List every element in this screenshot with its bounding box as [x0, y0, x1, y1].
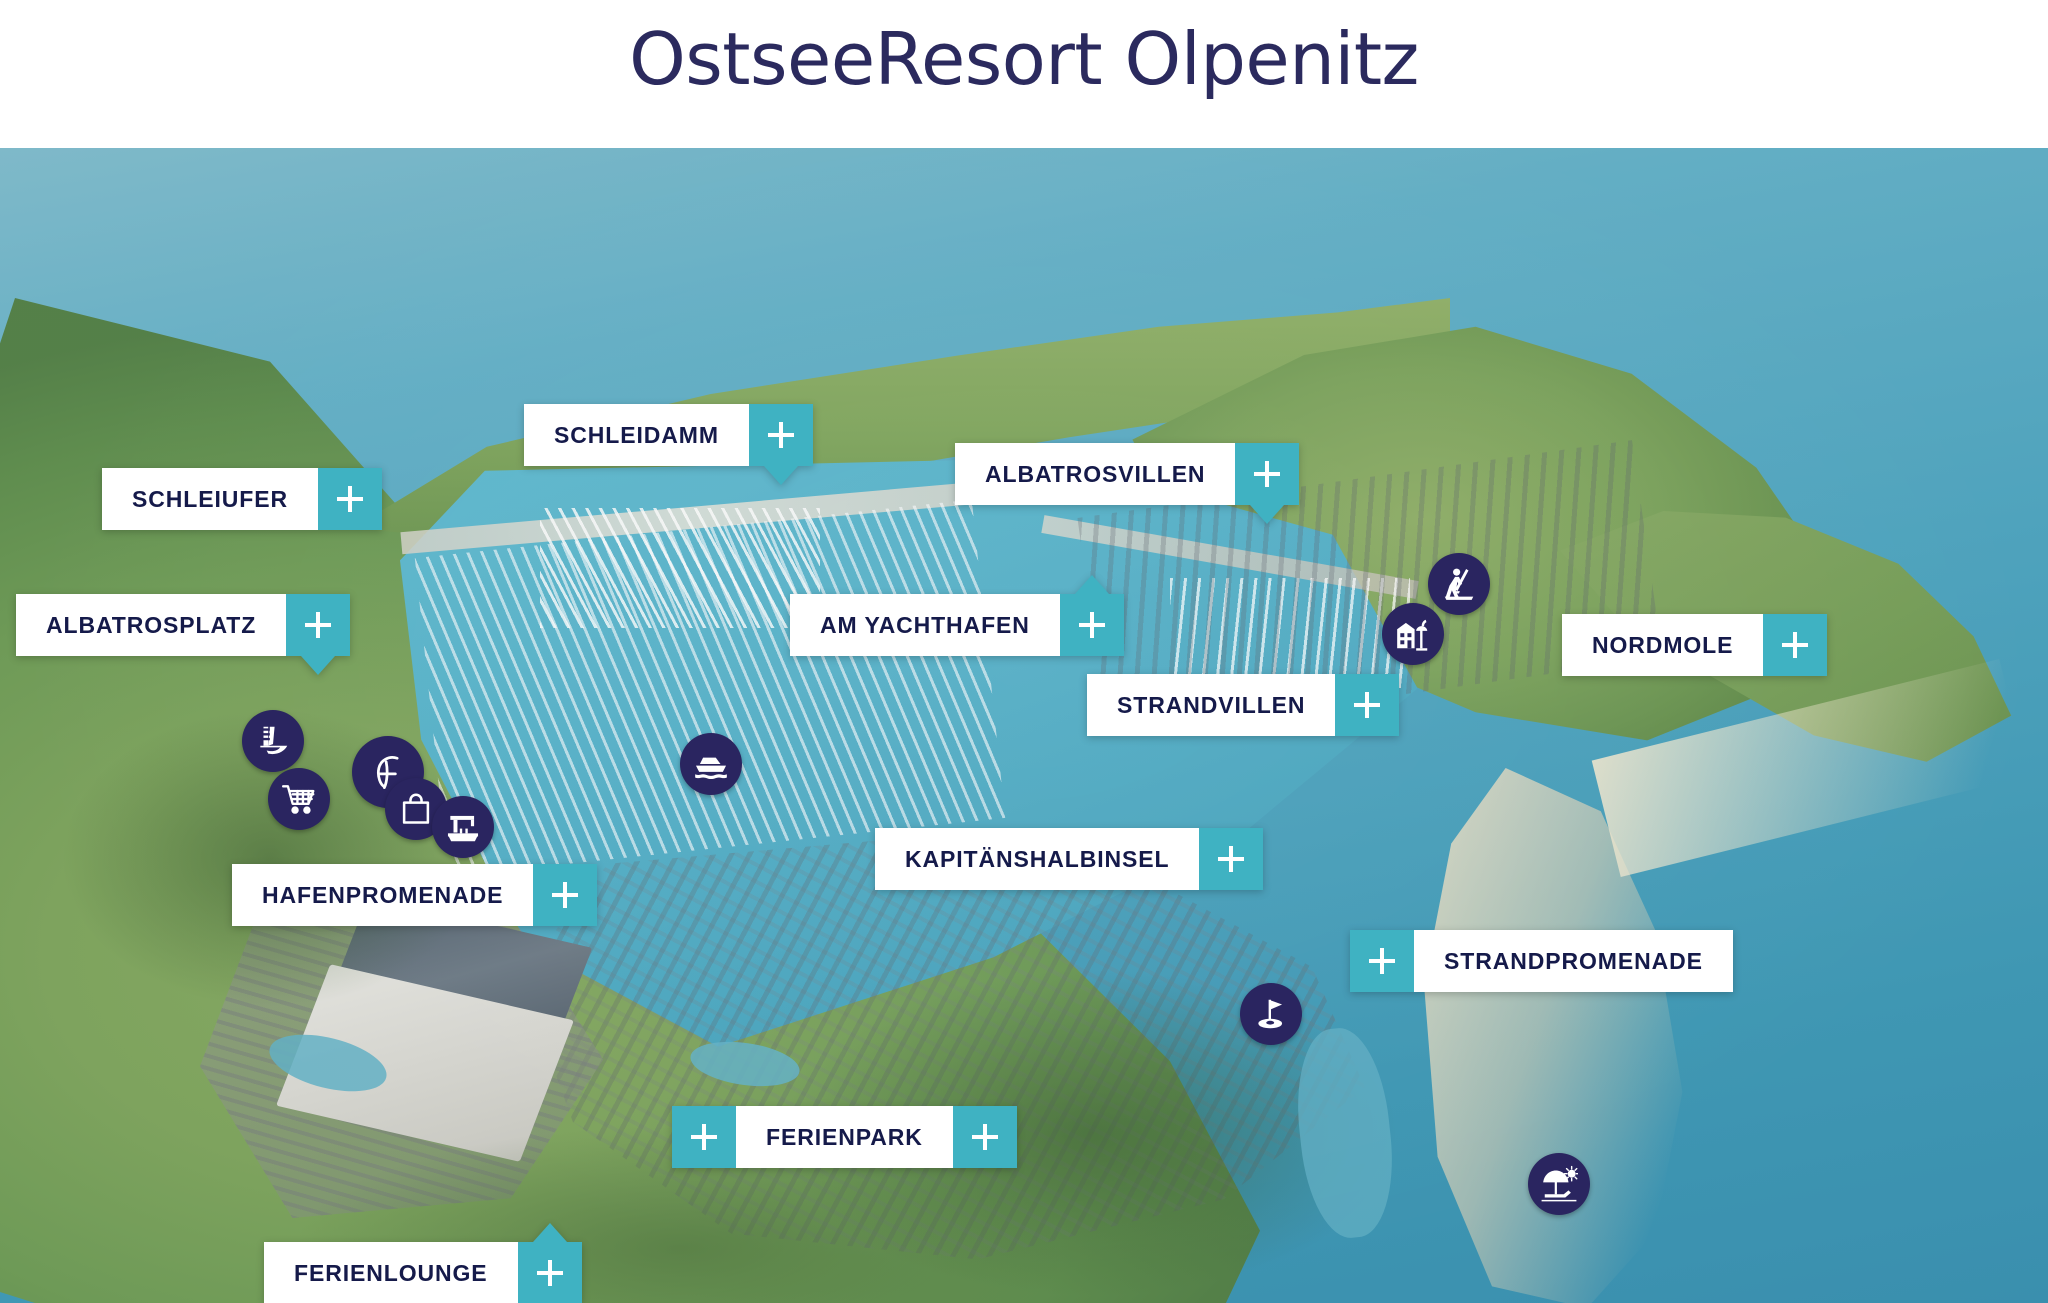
shopping-bag-icon — [397, 790, 435, 828]
hotspot-label-kapitaenshalbinsel: KAPITÄNSHALBINSEL — [875, 828, 1199, 890]
golf-flag-icon — [1252, 995, 1290, 1033]
page-root: OstseeResort Olpenitz — [0, 0, 2048, 1303]
hotspot-ferienpark[interactable]: FERIENPARK — [672, 1106, 1017, 1168]
poi-shopping-cart[interactable] — [268, 768, 330, 830]
hotspot-plus-albatrosvillen[interactable] — [1235, 443, 1299, 505]
hotspot-label-strandvillen: STRANDVILLEN — [1087, 674, 1335, 736]
hotspot-label-albatrosplatz: ALBATROSPLATZ — [16, 594, 286, 656]
hotspot-strandvillen[interactable]: STRANDVILLEN — [1087, 674, 1399, 736]
hotspot-albatrosvillen[interactable]: ALBATROSVILLEN — [955, 443, 1299, 505]
hotspot-plus-nordmole[interactable] — [1763, 614, 1827, 676]
hotspot-label-schleidamm: SCHLEIDAMM — [524, 404, 749, 466]
hotspot-plus-ferienpark-right[interactable] — [953, 1106, 1017, 1168]
poi-motorboat[interactable] — [680, 733, 742, 795]
hotspot-label-ferienpark: FERIENPARK — [736, 1106, 953, 1168]
hotspot-schleidamm[interactable]: SCHLEIDAMM — [524, 404, 813, 466]
beach-umbrella-icon — [1540, 1165, 1578, 1203]
hotspot-label-hafenpromenade: HAFENPROMENADE — [232, 864, 533, 926]
hotspot-hafenpromenade[interactable]: HAFENPROMENADE — [232, 864, 597, 926]
hotspot-label-schleiufer: SCHLEIUFER — [102, 468, 318, 530]
hotspot-ferienlounge[interactable]: FERIENLOUNGE — [264, 1242, 582, 1303]
hotspot-label-am-yachthafen: AM YACHTHAFEN — [790, 594, 1060, 656]
hotspot-strandpromenade[interactable]: STRANDPROMENADE — [1350, 930, 1733, 992]
shopping-cart-icon — [280, 780, 318, 818]
poi-resort-building[interactable] — [1382, 603, 1444, 665]
hotspot-plus-ferienlounge[interactable] — [518, 1242, 582, 1303]
hotspot-kapitaenshalbinsel[interactable]: KAPITÄNSHALBINSEL — [875, 828, 1263, 890]
hotspot-plus-schleidamm[interactable] — [749, 404, 813, 466]
pointer-up-icon — [533, 1223, 567, 1242]
hotspot-label-strandpromenade: STRANDPROMENADE — [1414, 930, 1733, 992]
resort-map[interactable]: SCHLEIDAMM ALBATROSVILLEN SCHLEIUFER ALB… — [0, 148, 2048, 1303]
hotspot-plus-ferienpark-left[interactable] — [672, 1106, 736, 1168]
pointer-up-icon — [1075, 575, 1109, 594]
hotspot-am-yachthafen[interactable]: AM YACHTHAFEN — [790, 594, 1124, 656]
hotspot-label-ferienlounge: FERIENLOUNGE — [264, 1242, 518, 1303]
hotspot-plus-strandvillen[interactable] — [1335, 674, 1399, 736]
page-title: OstseeResort Olpenitz — [0, 14, 2048, 104]
hotspot-plus-kapitaenshalbinsel[interactable] — [1199, 828, 1263, 890]
hotspot-plus-am-yachthafen[interactable] — [1060, 594, 1124, 656]
motorboat-icon — [692, 745, 730, 783]
stand-up-paddle-icon — [1440, 565, 1478, 603]
poi-beach[interactable] — [1528, 1153, 1590, 1215]
poi-waterslide[interactable] — [242, 710, 304, 772]
harbour-crane-icon — [444, 808, 482, 846]
pointer-down-icon — [301, 656, 335, 675]
pointer-down-icon — [1250, 505, 1284, 524]
hotspot-plus-hafenpromenade[interactable] — [533, 864, 597, 926]
map-marina-pontoons-north — [540, 508, 820, 628]
hotspot-label-albatrosvillen: ALBATROSVILLEN — [955, 443, 1235, 505]
hotspot-plus-strandpromenade[interactable] — [1350, 930, 1414, 992]
hotspot-label-nordmole: NORDMOLE — [1562, 614, 1763, 676]
hotspot-schleiufer[interactable]: SCHLEIUFER — [102, 468, 382, 530]
resort-building-icon — [1394, 615, 1432, 653]
poi-harbour-crane[interactable] — [432, 796, 494, 858]
poi-stand-up-paddle[interactable] — [1428, 553, 1490, 615]
poi-golf[interactable] — [1240, 983, 1302, 1045]
waterslide-icon — [254, 722, 292, 760]
pointer-down-icon — [764, 466, 798, 485]
hotspot-plus-albatrosplatz[interactable] — [286, 594, 350, 656]
hotspot-albatrosplatz[interactable]: ALBATROSPLATZ — [16, 594, 350, 656]
hotspot-nordmole[interactable]: NORDMOLE — [1562, 614, 1827, 676]
hotspot-plus-schleiufer[interactable] — [318, 468, 382, 530]
